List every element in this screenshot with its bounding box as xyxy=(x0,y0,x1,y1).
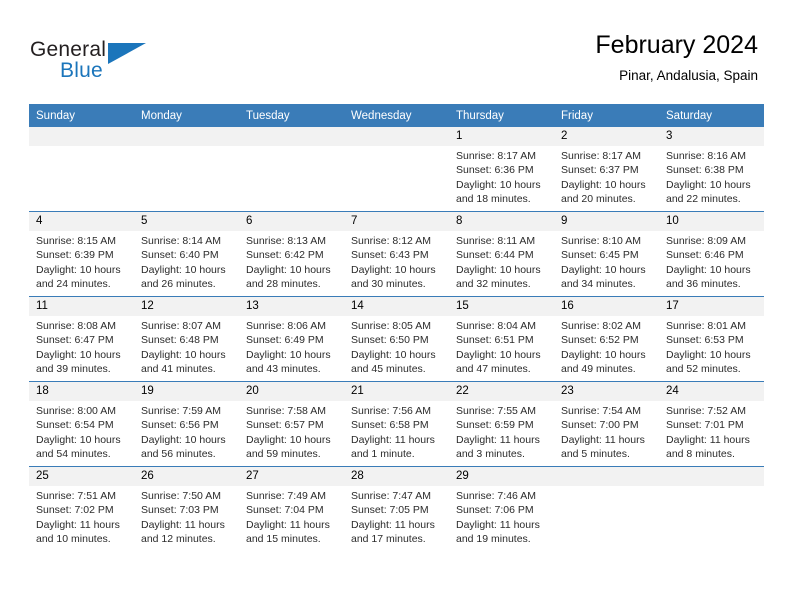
day-details: Sunrise: 8:12 AMSunset: 6:43 PMDaylight:… xyxy=(344,231,449,292)
day-details: Sunrise: 8:17 AMSunset: 6:36 PMDaylight:… xyxy=(449,146,554,207)
daylight-line-1: Daylight: 11 hours xyxy=(351,518,443,532)
sunrise-time: Sunrise: 7:50 AM xyxy=(141,489,233,503)
daylight-line-2: and 28 minutes. xyxy=(246,277,338,291)
day-number xyxy=(554,467,659,486)
weekday-header-friday: Friday xyxy=(554,104,659,127)
daylight-line-2: and 26 minutes. xyxy=(141,277,233,291)
daylight-line-2: and 15 minutes. xyxy=(246,532,338,546)
day-number: 4 xyxy=(29,212,134,231)
calendar-day-cell[interactable]: 3Sunrise: 8:16 AMSunset: 6:38 PMDaylight… xyxy=(659,127,764,212)
daylight-line-1: Daylight: 11 hours xyxy=(351,433,443,447)
sunset-time: Sunset: 6:37 PM xyxy=(561,163,653,177)
sunset-time: Sunset: 6:58 PM xyxy=(351,418,443,432)
calendar-day-cell[interactable]: 16Sunrise: 8:02 AMSunset: 6:52 PMDayligh… xyxy=(554,297,659,382)
daylight-line-2: and 3 minutes. xyxy=(456,447,548,461)
daylight-line-2: and 59 minutes. xyxy=(246,447,338,461)
calendar-day-cell[interactable]: 12Sunrise: 8:07 AMSunset: 6:48 PMDayligh… xyxy=(134,297,239,382)
daylight-line-1: Daylight: 10 hours xyxy=(456,263,548,277)
calendar-week-row: 11Sunrise: 8:08 AMSunset: 6:47 PMDayligh… xyxy=(29,297,764,382)
calendar-day-cell[interactable]: 15Sunrise: 8:04 AMSunset: 6:51 PMDayligh… xyxy=(449,297,554,382)
daylight-line-1: Daylight: 10 hours xyxy=(456,178,548,192)
daylight-line-1: Daylight: 10 hours xyxy=(351,263,443,277)
sunset-time: Sunset: 6:44 PM xyxy=(456,248,548,262)
calendar-day-cell-empty xyxy=(554,467,659,552)
daylight-line-2: and 17 minutes. xyxy=(351,532,443,546)
daylight-line-1: Daylight: 10 hours xyxy=(351,348,443,362)
calendar-page: General Blue February 2024 Pinar, Andalu… xyxy=(0,0,792,612)
daylight-line-1: Daylight: 10 hours xyxy=(666,348,758,362)
sunset-time: Sunset: 6:57 PM xyxy=(246,418,338,432)
daylight-line-1: Daylight: 11 hours xyxy=(246,518,338,532)
day-number: 19 xyxy=(134,382,239,401)
daylight-line-2: and 41 minutes. xyxy=(141,362,233,376)
day-number: 25 xyxy=(29,467,134,486)
daylight-line-1: Daylight: 10 hours xyxy=(141,263,233,277)
sunset-time: Sunset: 6:39 PM xyxy=(36,248,128,262)
calendar-week-row: 25Sunrise: 7:51 AMSunset: 7:02 PMDayligh… xyxy=(29,467,764,552)
day-number: 1 xyxy=(449,127,554,146)
daylight-line-2: and 19 minutes. xyxy=(456,532,548,546)
daylight-line-2: and 54 minutes. xyxy=(36,447,128,461)
day-details: Sunrise: 7:46 AMSunset: 7:06 PMDaylight:… xyxy=(449,486,554,547)
calendar-day-cell[interactable]: 26Sunrise: 7:50 AMSunset: 7:03 PMDayligh… xyxy=(134,467,239,552)
calendar-week-row: 4Sunrise: 8:15 AMSunset: 6:39 PMDaylight… xyxy=(29,212,764,297)
day-details: Sunrise: 8:08 AMSunset: 6:47 PMDaylight:… xyxy=(29,316,134,377)
title-block: February 2024 Pinar, Andalusia, Spain xyxy=(595,30,758,86)
weekday-header-monday: Monday xyxy=(134,104,239,127)
brand-logo[interactable]: General Blue xyxy=(30,38,260,90)
sunrise-time: Sunrise: 8:06 AM xyxy=(246,319,338,333)
calendar-day-cell[interactable]: 23Sunrise: 7:54 AMSunset: 7:00 PMDayligh… xyxy=(554,382,659,467)
sunset-time: Sunset: 7:03 PM xyxy=(141,503,233,517)
sunrise-time: Sunrise: 8:02 AM xyxy=(561,319,653,333)
day-number: 15 xyxy=(449,297,554,316)
weekday-header-tuesday: Tuesday xyxy=(239,104,344,127)
sunset-time: Sunset: 6:42 PM xyxy=(246,248,338,262)
daylight-line-1: Daylight: 10 hours xyxy=(561,178,653,192)
calendar-week-row: 1Sunrise: 8:17 AMSunset: 6:36 PMDaylight… xyxy=(29,127,764,212)
sunset-time: Sunset: 6:38 PM xyxy=(666,163,758,177)
sunrise-time: Sunrise: 7:54 AM xyxy=(561,404,653,418)
day-details: Sunrise: 8:10 AMSunset: 6:45 PMDaylight:… xyxy=(554,231,659,292)
calendar-day-cell[interactable]: 27Sunrise: 7:49 AMSunset: 7:04 PMDayligh… xyxy=(239,467,344,552)
calendar-day-cell-empty xyxy=(344,127,449,212)
calendar-day-cell[interactable]: 17Sunrise: 8:01 AMSunset: 6:53 PMDayligh… xyxy=(659,297,764,382)
sunrise-time: Sunrise: 8:11 AM xyxy=(456,234,548,248)
day-number: 20 xyxy=(239,382,344,401)
sunrise-time: Sunrise: 7:58 AM xyxy=(246,404,338,418)
sunset-time: Sunset: 6:36 PM xyxy=(456,163,548,177)
sunrise-time: Sunrise: 8:10 AM xyxy=(561,234,653,248)
calendar-day-cell[interactable]: 20Sunrise: 7:58 AMSunset: 6:57 PMDayligh… xyxy=(239,382,344,467)
sunrise-time: Sunrise: 7:52 AM xyxy=(666,404,758,418)
daylight-line-1: Daylight: 10 hours xyxy=(666,178,758,192)
day-details: Sunrise: 7:55 AMSunset: 6:59 PMDaylight:… xyxy=(449,401,554,462)
day-number: 14 xyxy=(344,297,449,316)
sunrise-time: Sunrise: 8:00 AM xyxy=(36,404,128,418)
calendar-day-cell[interactable]: 5Sunrise: 8:14 AMSunset: 6:40 PMDaylight… xyxy=(134,212,239,297)
day-details: Sunrise: 8:09 AMSunset: 6:46 PMDaylight:… xyxy=(659,231,764,292)
calendar-day-cell[interactable]: 24Sunrise: 7:52 AMSunset: 7:01 PMDayligh… xyxy=(659,382,764,467)
calendar-grid: Sunday Monday Tuesday Wednesday Thursday… xyxy=(29,104,764,551)
sunset-time: Sunset: 7:04 PM xyxy=(246,503,338,517)
calendar-day-cell[interactable]: 28Sunrise: 7:47 AMSunset: 7:05 PMDayligh… xyxy=(344,467,449,552)
sunset-time: Sunset: 6:52 PM xyxy=(561,333,653,347)
sunrise-time: Sunrise: 7:51 AM xyxy=(36,489,128,503)
calendar-day-cell[interactable]: 13Sunrise: 8:06 AMSunset: 6:49 PMDayligh… xyxy=(239,297,344,382)
day-details: Sunrise: 8:16 AMSunset: 6:38 PMDaylight:… xyxy=(659,146,764,207)
sunrise-time: Sunrise: 7:46 AM xyxy=(456,489,548,503)
sunset-time: Sunset: 7:05 PM xyxy=(351,503,443,517)
calendar-body: 1Sunrise: 8:17 AMSunset: 6:36 PMDaylight… xyxy=(29,127,764,551)
sunrise-time: Sunrise: 8:17 AM xyxy=(561,149,653,163)
brand-name-blue: Blue xyxy=(60,59,103,83)
calendar-day-cell-empty xyxy=(134,127,239,212)
day-details: Sunrise: 7:52 AMSunset: 7:01 PMDaylight:… xyxy=(659,401,764,462)
day-number: 8 xyxy=(449,212,554,231)
weekday-header-saturday: Saturday xyxy=(659,104,764,127)
sunset-time: Sunset: 6:51 PM xyxy=(456,333,548,347)
day-details: Sunrise: 8:06 AMSunset: 6:49 PMDaylight:… xyxy=(239,316,344,377)
day-number: 21 xyxy=(344,382,449,401)
calendar-day-cell[interactable]: 29Sunrise: 7:46 AMSunset: 7:06 PMDayligh… xyxy=(449,467,554,552)
day-details: Sunrise: 8:17 AMSunset: 6:37 PMDaylight:… xyxy=(554,146,659,207)
calendar-day-cell[interactable]: 18Sunrise: 8:00 AMSunset: 6:54 PMDayligh… xyxy=(29,382,134,467)
day-number: 17 xyxy=(659,297,764,316)
day-details: Sunrise: 8:13 AMSunset: 6:42 PMDaylight:… xyxy=(239,231,344,292)
daylight-line-1: Daylight: 10 hours xyxy=(141,348,233,362)
day-number: 13 xyxy=(239,297,344,316)
daylight-line-2: and 45 minutes. xyxy=(351,362,443,376)
day-number: 6 xyxy=(239,212,344,231)
day-details: Sunrise: 8:02 AMSunset: 6:52 PMDaylight:… xyxy=(554,316,659,377)
sunset-time: Sunset: 7:00 PM xyxy=(561,418,653,432)
sunset-time: Sunset: 6:40 PM xyxy=(141,248,233,262)
daylight-line-1: Daylight: 10 hours xyxy=(456,348,548,362)
day-number: 2 xyxy=(554,127,659,146)
day-details: Sunrise: 7:50 AMSunset: 7:03 PMDaylight:… xyxy=(134,486,239,547)
day-details: Sunrise: 8:07 AMSunset: 6:48 PMDaylight:… xyxy=(134,316,239,377)
day-number xyxy=(344,127,449,146)
day-details: Sunrise: 8:01 AMSunset: 6:53 PMDaylight:… xyxy=(659,316,764,377)
sunrise-time: Sunrise: 8:15 AM xyxy=(36,234,128,248)
calendar-day-cell[interactable]: 19Sunrise: 7:59 AMSunset: 6:56 PMDayligh… xyxy=(134,382,239,467)
daylight-line-1: Daylight: 11 hours xyxy=(666,433,758,447)
sunset-time: Sunset: 7:02 PM xyxy=(36,503,128,517)
daylight-line-2: and 30 minutes. xyxy=(351,277,443,291)
sunrise-time: Sunrise: 7:59 AM xyxy=(141,404,233,418)
sunset-time: Sunset: 6:53 PM xyxy=(666,333,758,347)
day-number xyxy=(29,127,134,146)
weekday-header-sunday: Sunday xyxy=(29,104,134,127)
daylight-line-1: Daylight: 10 hours xyxy=(36,433,128,447)
daylight-line-2: and 10 minutes. xyxy=(36,532,128,546)
day-details: Sunrise: 7:58 AMSunset: 6:57 PMDaylight:… xyxy=(239,401,344,462)
sunset-time: Sunset: 6:59 PM xyxy=(456,418,548,432)
daylight-line-2: and 52 minutes. xyxy=(666,362,758,376)
sunset-time: Sunset: 6:54 PM xyxy=(36,418,128,432)
day-details: Sunrise: 7:51 AMSunset: 7:02 PMDaylight:… xyxy=(29,486,134,547)
daylight-line-2: and 36 minutes. xyxy=(666,277,758,291)
day-details: Sunrise: 7:49 AMSunset: 7:04 PMDaylight:… xyxy=(239,486,344,547)
sunset-time: Sunset: 6:49 PM xyxy=(246,333,338,347)
day-number: 22 xyxy=(449,382,554,401)
daylight-line-2: and 18 minutes. xyxy=(456,192,548,206)
day-number: 28 xyxy=(344,467,449,486)
sunrise-time: Sunrise: 8:12 AM xyxy=(351,234,443,248)
daylight-line-1: Daylight: 10 hours xyxy=(246,263,338,277)
day-number: 16 xyxy=(554,297,659,316)
daylight-line-1: Daylight: 10 hours xyxy=(561,348,653,362)
daylight-line-2: and 20 minutes. xyxy=(561,192,653,206)
calendar-day-cell[interactable]: 1Sunrise: 8:17 AMSunset: 6:36 PMDaylight… xyxy=(449,127,554,212)
daylight-line-2: and 47 minutes. xyxy=(456,362,548,376)
sunset-time: Sunset: 6:45 PM xyxy=(561,248,653,262)
day-details: Sunrise: 8:11 AMSunset: 6:44 PMDaylight:… xyxy=(449,231,554,292)
daylight-line-1: Daylight: 11 hours xyxy=(456,518,548,532)
day-details: Sunrise: 8:05 AMSunset: 6:50 PMDaylight:… xyxy=(344,316,449,377)
page-header: General Blue February 2024 Pinar, Andalu… xyxy=(0,0,792,104)
calendar-day-cell[interactable]: 4Sunrise: 8:15 AMSunset: 6:39 PMDaylight… xyxy=(29,212,134,297)
sunset-time: Sunset: 6:50 PM xyxy=(351,333,443,347)
calendar-day-cell[interactable]: 14Sunrise: 8:05 AMSunset: 6:50 PMDayligh… xyxy=(344,297,449,382)
sunset-time: Sunset: 7:01 PM xyxy=(666,418,758,432)
sunrise-time: Sunrise: 8:17 AM xyxy=(456,149,548,163)
calendar-day-cell[interactable]: 11Sunrise: 8:08 AMSunset: 6:47 PMDayligh… xyxy=(29,297,134,382)
sunset-time: Sunset: 6:56 PM xyxy=(141,418,233,432)
day-number: 3 xyxy=(659,127,764,146)
day-details: Sunrise: 7:59 AMSunset: 6:56 PMDaylight:… xyxy=(134,401,239,462)
sunrise-time: Sunrise: 8:14 AM xyxy=(141,234,233,248)
day-number xyxy=(134,127,239,146)
calendar-day-cell[interactable]: 25Sunrise: 7:51 AMSunset: 7:02 PMDayligh… xyxy=(29,467,134,552)
day-details: Sunrise: 7:56 AMSunset: 6:58 PMDaylight:… xyxy=(344,401,449,462)
sunrise-time: Sunrise: 7:49 AM xyxy=(246,489,338,503)
daylight-line-1: Daylight: 11 hours xyxy=(141,518,233,532)
daylight-line-2: and 39 minutes. xyxy=(36,362,128,376)
daylight-line-2: and 12 minutes. xyxy=(141,532,233,546)
daylight-line-1: Daylight: 11 hours xyxy=(561,433,653,447)
calendar-day-cell-empty xyxy=(239,127,344,212)
calendar-header-row: Sunday Monday Tuesday Wednesday Thursday… xyxy=(29,104,764,127)
day-number: 12 xyxy=(134,297,239,316)
page-subtitle: Pinar, Andalusia, Spain xyxy=(595,66,758,86)
day-number: 10 xyxy=(659,212,764,231)
day-details: Sunrise: 8:14 AMSunset: 6:40 PMDaylight:… xyxy=(134,231,239,292)
daylight-line-2: and 32 minutes. xyxy=(456,277,548,291)
daylight-line-2: and 49 minutes. xyxy=(561,362,653,376)
sunset-time: Sunset: 6:48 PM xyxy=(141,333,233,347)
calendar-day-cell-empty xyxy=(659,467,764,552)
calendar-day-cell-empty xyxy=(29,127,134,212)
sunrise-time: Sunrise: 8:13 AM xyxy=(246,234,338,248)
brand-triangle-icon xyxy=(108,43,146,64)
daylight-line-2: and 1 minute. xyxy=(351,447,443,461)
sunrise-time: Sunrise: 8:16 AM xyxy=(666,149,758,163)
daylight-line-2: and 43 minutes. xyxy=(246,362,338,376)
calendar-day-cell[interactable]: 21Sunrise: 7:56 AMSunset: 6:58 PMDayligh… xyxy=(344,382,449,467)
sunrise-time: Sunrise: 7:47 AM xyxy=(351,489,443,503)
daylight-line-1: Daylight: 10 hours xyxy=(246,348,338,362)
calendar-day-cell[interactable]: 8Sunrise: 8:11 AMSunset: 6:44 PMDaylight… xyxy=(449,212,554,297)
sunrise-time: Sunrise: 8:09 AM xyxy=(666,234,758,248)
calendar-day-cell[interactable]: 6Sunrise: 8:13 AMSunset: 6:42 PMDaylight… xyxy=(239,212,344,297)
daylight-line-2: and 56 minutes. xyxy=(141,447,233,461)
sunset-time: Sunset: 7:06 PM xyxy=(456,503,548,517)
day-number: 23 xyxy=(554,382,659,401)
daylight-line-1: Daylight: 11 hours xyxy=(36,518,128,532)
day-details: Sunrise: 8:04 AMSunset: 6:51 PMDaylight:… xyxy=(449,316,554,377)
calendar-day-cell[interactable]: 7Sunrise: 8:12 AMSunset: 6:43 PMDaylight… xyxy=(344,212,449,297)
daylight-line-2: and 34 minutes. xyxy=(561,277,653,291)
sunrise-time: Sunrise: 7:56 AM xyxy=(351,404,443,418)
day-number: 24 xyxy=(659,382,764,401)
day-details: Sunrise: 7:47 AMSunset: 7:05 PMDaylight:… xyxy=(344,486,449,547)
sunset-time: Sunset: 6:47 PM xyxy=(36,333,128,347)
day-number: 29 xyxy=(449,467,554,486)
daylight-line-1: Daylight: 10 hours xyxy=(36,348,128,362)
day-number: 5 xyxy=(134,212,239,231)
daylight-line-2: and 8 minutes. xyxy=(666,447,758,461)
calendar-day-cell[interactable]: 10Sunrise: 8:09 AMSunset: 6:46 PMDayligh… xyxy=(659,212,764,297)
sunrise-time: Sunrise: 8:08 AM xyxy=(36,319,128,333)
sunset-time: Sunset: 6:46 PM xyxy=(666,248,758,262)
calendar-day-cell[interactable]: 2Sunrise: 8:17 AMSunset: 6:37 PMDaylight… xyxy=(554,127,659,212)
daylight-line-1: Daylight: 10 hours xyxy=(36,263,128,277)
daylight-line-1: Daylight: 10 hours xyxy=(561,263,653,277)
daylight-line-2: and 22 minutes. xyxy=(666,192,758,206)
calendar-week-row: 18Sunrise: 8:00 AMSunset: 6:54 PMDayligh… xyxy=(29,382,764,467)
sunrise-time: Sunrise: 8:01 AM xyxy=(666,319,758,333)
daylight-line-1: Daylight: 10 hours xyxy=(141,433,233,447)
daylight-line-2: and 5 minutes. xyxy=(561,447,653,461)
day-number: 27 xyxy=(239,467,344,486)
weekday-header-wednesday: Wednesday xyxy=(344,104,449,127)
daylight-line-2: and 24 minutes. xyxy=(36,277,128,291)
page-title: February 2024 xyxy=(595,30,758,60)
sunrise-time: Sunrise: 7:55 AM xyxy=(456,404,548,418)
calendar-day-cell[interactable]: 9Sunrise: 8:10 AMSunset: 6:45 PMDaylight… xyxy=(554,212,659,297)
daylight-line-1: Daylight: 10 hours xyxy=(246,433,338,447)
weekday-header-thursday: Thursday xyxy=(449,104,554,127)
day-number xyxy=(659,467,764,486)
day-details: Sunrise: 8:15 AMSunset: 6:39 PMDaylight:… xyxy=(29,231,134,292)
sunrise-time: Sunrise: 8:04 AM xyxy=(456,319,548,333)
calendar-day-cell[interactable]: 22Sunrise: 7:55 AMSunset: 6:59 PMDayligh… xyxy=(449,382,554,467)
day-number: 11 xyxy=(29,297,134,316)
sunset-time: Sunset: 6:43 PM xyxy=(351,248,443,262)
day-number: 9 xyxy=(554,212,659,231)
day-number: 26 xyxy=(134,467,239,486)
day-number: 7 xyxy=(344,212,449,231)
day-number xyxy=(239,127,344,146)
day-details: Sunrise: 8:00 AMSunset: 6:54 PMDaylight:… xyxy=(29,401,134,462)
daylight-line-1: Daylight: 11 hours xyxy=(456,433,548,447)
sunrise-time: Sunrise: 8:05 AM xyxy=(351,319,443,333)
sunrise-time: Sunrise: 8:07 AM xyxy=(141,319,233,333)
day-details: Sunrise: 7:54 AMSunset: 7:00 PMDaylight:… xyxy=(554,401,659,462)
day-number: 18 xyxy=(29,382,134,401)
daylight-line-1: Daylight: 10 hours xyxy=(666,263,758,277)
